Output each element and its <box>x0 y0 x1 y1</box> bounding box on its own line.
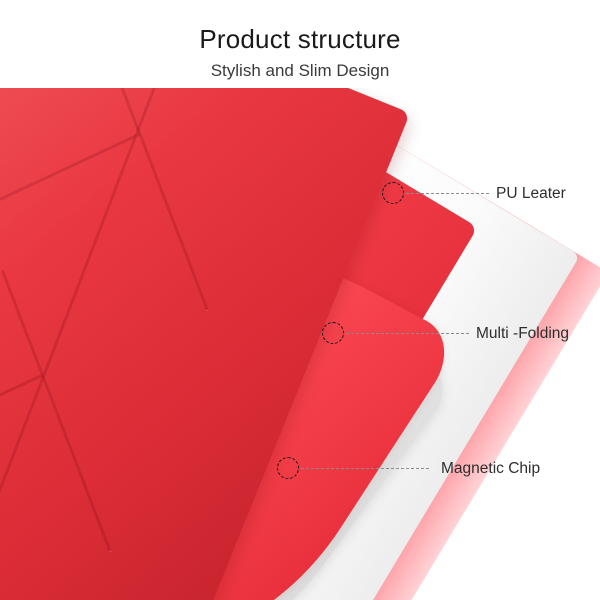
callout-marker-pu-leather <box>382 182 404 204</box>
callout-label-multi-folding: Multi -Folding <box>476 325 569 343</box>
callout-label-pu-leather: PU Leater <box>496 185 566 203</box>
callout-leader-multi-folding <box>346 333 469 334</box>
callout-leader-pu-leather <box>406 193 489 194</box>
callout-marker-multi-folding <box>322 322 344 344</box>
callout-marker-magnetic-chip <box>277 457 299 479</box>
callout-label-magnetic-chip: Magnetic Chip <box>441 460 540 478</box>
callout-group: PU LeaterMulti -FoldingMagnetic Chip <box>0 0 600 600</box>
callout-leader-magnetic-chip <box>301 468 429 469</box>
product-structure-infographic: Product structure Stylish and Slim Desig… <box>0 0 600 600</box>
